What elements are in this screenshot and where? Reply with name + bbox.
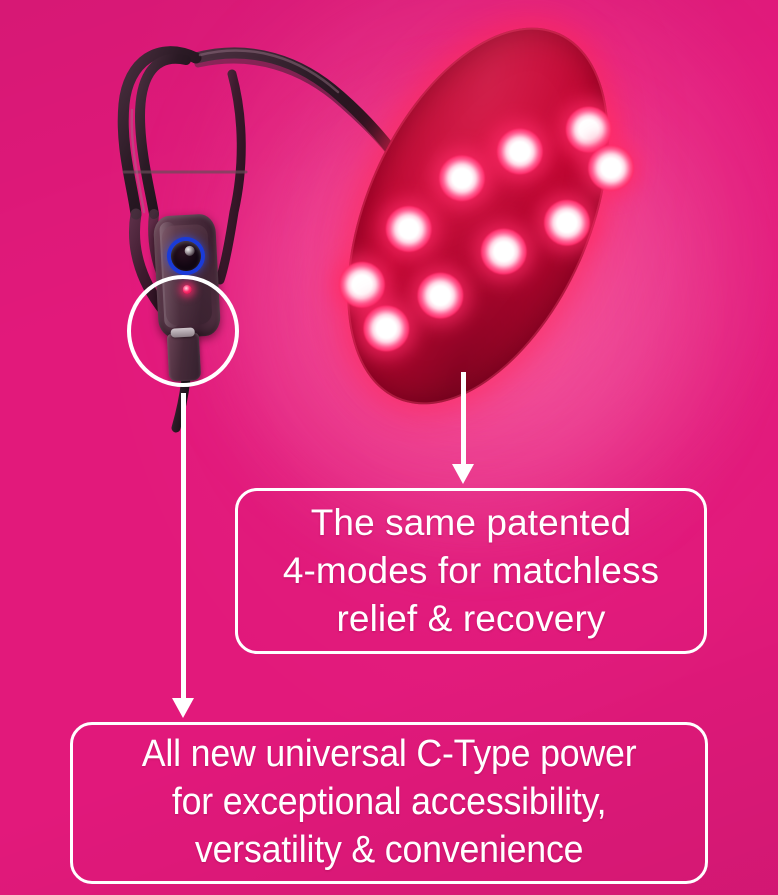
arrow-shaft [461,372,466,464]
led-panel [298,16,658,416]
arrow-to-modes-callout [451,372,475,484]
led-3 [490,121,551,182]
led-7 [378,199,439,260]
callout-patented-modes: The same patented 4-modes for matchless … [235,488,707,654]
led-group [294,0,661,444]
product-feature-graphic: The same patented 4-modes for matchless … [0,0,778,895]
led-6 [473,221,534,282]
arrow-to-power-callout [171,393,195,718]
arrow-head [452,464,474,484]
led-5 [432,148,493,209]
led-8 [410,265,471,326]
callout-modes-text: The same patented 4-modes for matchless … [273,499,669,643]
arrow-shaft [181,393,186,698]
usb-c-highlight-circle [127,275,239,387]
callout-power-text: All new universal C-Type power for excep… [132,731,645,875]
led-4 [537,192,598,253]
arrow-head [172,698,194,718]
callout-c-type-power: All new universal C-Type power for excep… [70,722,708,884]
